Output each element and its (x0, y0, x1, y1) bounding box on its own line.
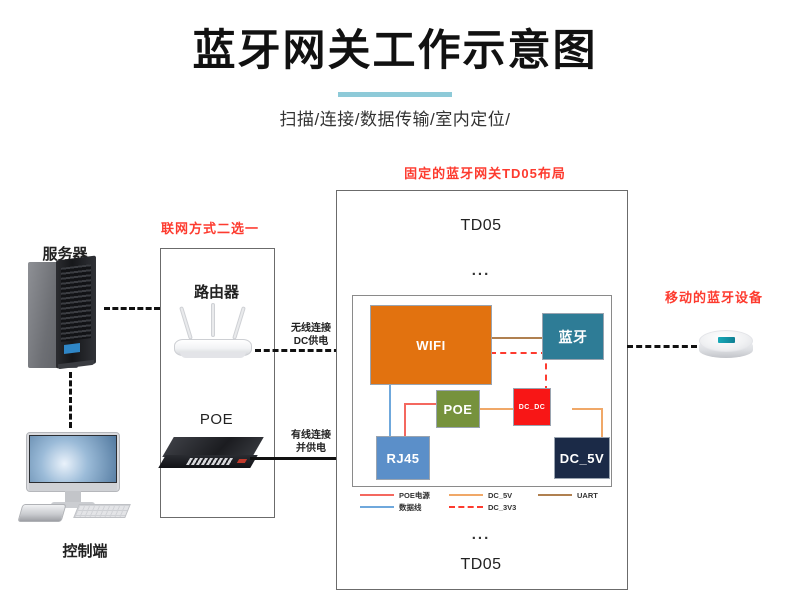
block-rj45[interactable]: RJ45 (376, 436, 430, 480)
legend-item-uart: UART (538, 491, 627, 500)
legend-swatch-dc3v3 (449, 506, 483, 508)
legend-item-dc5v: DC_5V (449, 491, 538, 500)
block-rj45-label: RJ45 (386, 451, 419, 466)
server-to-network-dashed-line (104, 307, 160, 310)
legend-label-dc3v3: DC_3V3 (488, 503, 516, 512)
legend-swatch-poe-power (360, 494, 394, 496)
wire-dc5v-dcdc-right (572, 408, 602, 410)
gateway-dots-top: ... (336, 262, 626, 279)
title-underline-bar (338, 92, 452, 97)
block-dcdc[interactable]: DC_DC (513, 388, 551, 426)
wire-dc5v-down (601, 408, 603, 438)
network-mode-caption: 联网方式二选一 (120, 218, 300, 237)
wifi-router-icon (170, 306, 256, 364)
gateway-title-top: TD05 (336, 217, 626, 235)
legend-item-poe-power: POE电源 (360, 490, 449, 501)
block-dc5v[interactable]: DC_5V (554, 437, 610, 479)
gateway-title-bottom: TD05 (336, 556, 626, 574)
block-poe-label: POE (444, 402, 473, 417)
legend-item-data-line: 数据线 (360, 502, 449, 513)
router-label: 路由器 (160, 281, 273, 302)
imac-desktop-icon (18, 432, 130, 524)
legend-item-dc3v3: DC_3V3 (449, 503, 538, 512)
page-subtitle: 扫描/连接/数据传输/室内定位/ (0, 105, 790, 130)
control-terminal-label: 控制端 (38, 540, 132, 561)
legend-swatch-data-line (360, 506, 394, 508)
block-wifi[interactable]: WIFI (370, 305, 492, 385)
wire-uart-wifi-bt (490, 337, 542, 339)
gateway-watermark: TD05 (420, 448, 530, 470)
legend-row-1: POE电源 DC_5V UART (360, 489, 628, 501)
block-dc5v-label: DC_5V (560, 451, 604, 466)
block-bluetooth-label: 蓝牙 (559, 327, 588, 347)
wire-dc3v3-horizontal (490, 352, 547, 354)
block-bluetooth[interactable]: 蓝牙 (542, 313, 604, 360)
legend-label-dc5v: DC_5V (488, 491, 512, 500)
gateway-dots-bottom: ... (336, 526, 626, 543)
mobile-device-caption: 移动的蓝牙设备 (638, 287, 790, 306)
legend: POE电源 DC_5V UART 数据线 DC_3V3 (360, 489, 628, 513)
legend-label-uart: UART (577, 491, 598, 500)
server-tower-icon (28, 262, 102, 368)
gateway-to-beacon-dashed-line (627, 345, 697, 348)
poe-switch-icon (162, 437, 262, 475)
block-wifi-label: WIFI (416, 338, 445, 353)
block-poe[interactable]: POE (436, 390, 480, 428)
gateway-layout-caption: 固定的蓝牙网关TD05布局 (335, 163, 635, 182)
page-title: 蓝牙网关工作示意图 (0, 28, 790, 75)
server-to-control-dashed-line (69, 372, 72, 428)
ble-beacon-icon (697, 328, 755, 364)
legend-label-poe-power: POE电源 (399, 490, 430, 501)
legend-swatch-uart (538, 494, 572, 496)
legend-swatch-dc5v (449, 494, 483, 496)
poe-switch-label: POE (160, 411, 273, 428)
block-dcdc-label: DC_DC (519, 404, 546, 411)
legend-row-2: 数据线 DC_3V3 (360, 501, 628, 513)
wire-dc5v-poe-dcdc (478, 408, 513, 410)
legend-label-data-line: 数据线 (399, 502, 422, 513)
